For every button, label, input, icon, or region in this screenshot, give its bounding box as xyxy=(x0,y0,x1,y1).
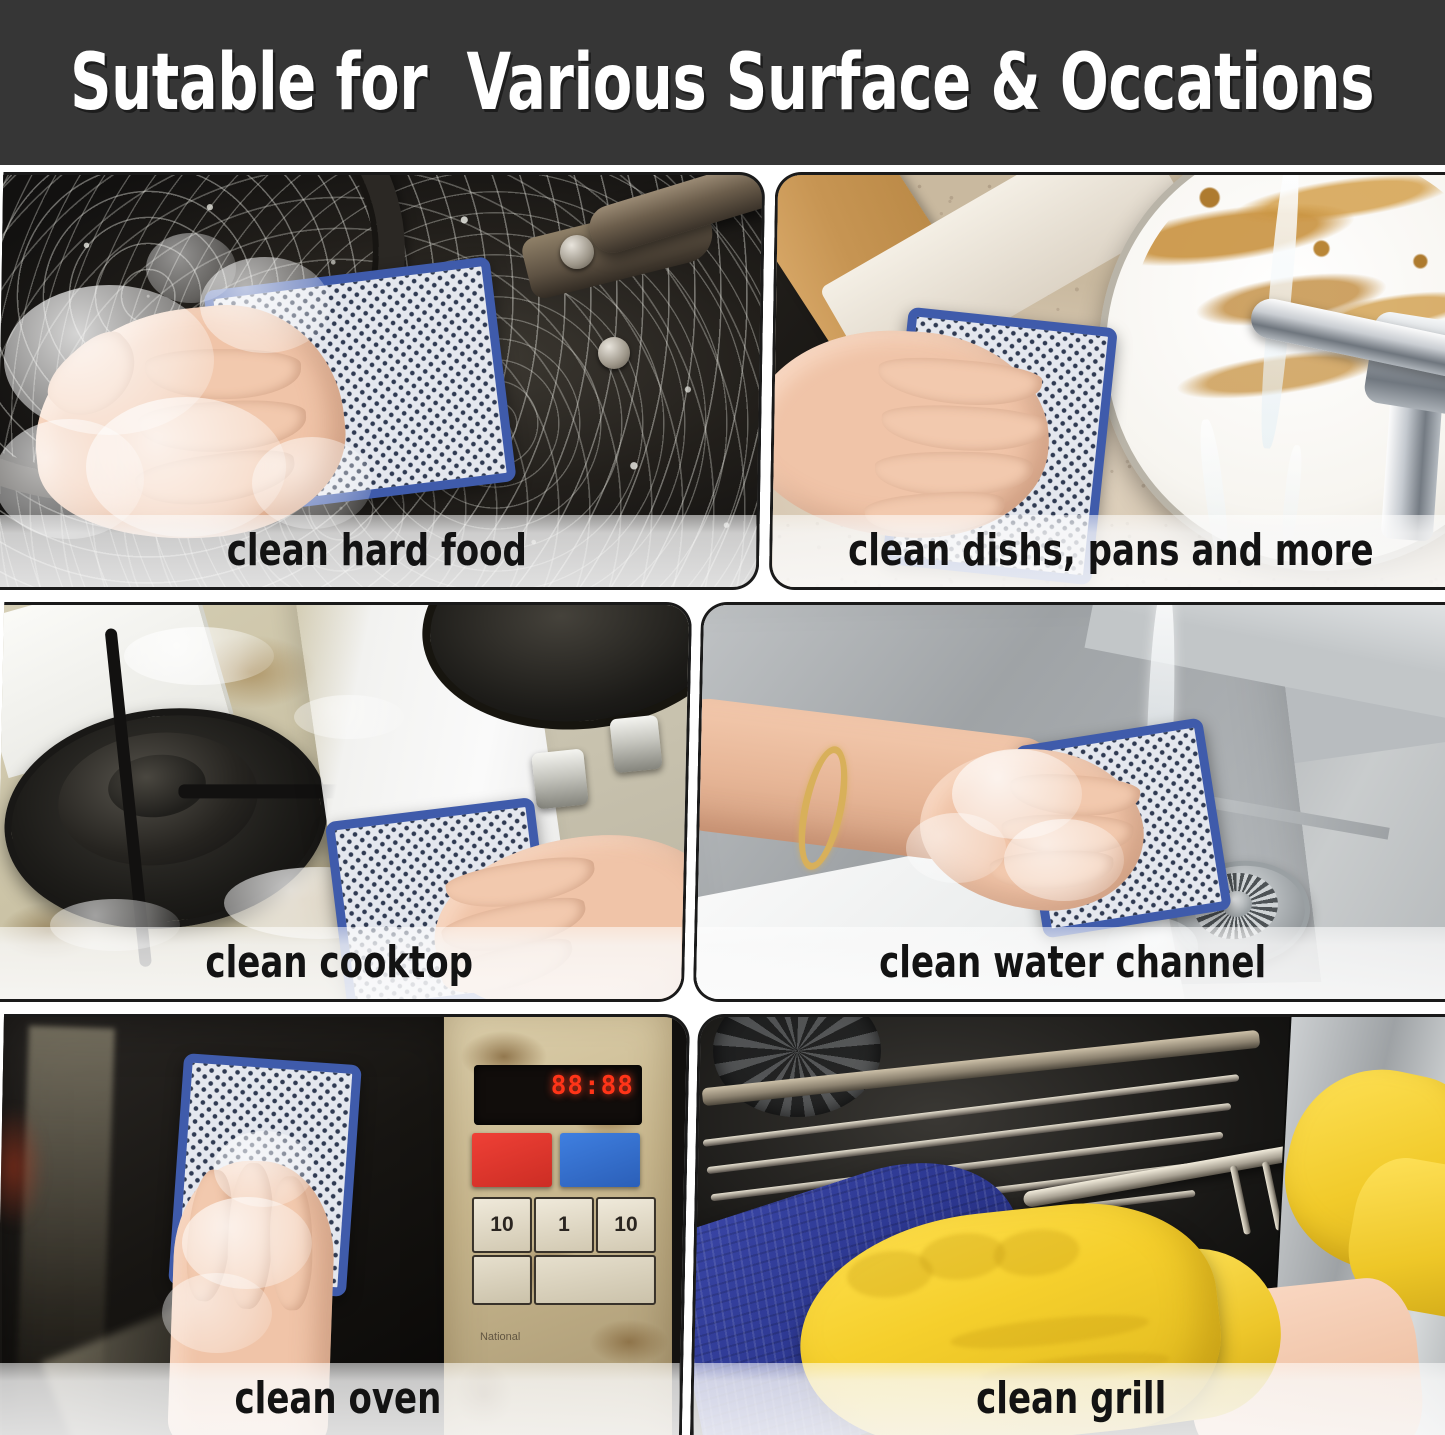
keypad-key-2[interactable]: 1 xyxy=(534,1197,594,1253)
page-title: Sutable for Various Surface & Occations xyxy=(71,44,1375,122)
panel-caption: clean cooktop xyxy=(205,941,473,985)
keypad-key-2-label: 1 xyxy=(558,1213,570,1237)
finger-2 xyxy=(880,402,1048,455)
header-bar: Sutable for Various Surface & Occations xyxy=(0,0,1445,165)
foam-1 xyxy=(124,627,274,685)
panel-clean-cooktop: clean cooktop xyxy=(0,602,692,1002)
panel-caption: clean grill xyxy=(976,1377,1166,1421)
panel-caption: clean dishs, pans and more xyxy=(848,529,1373,573)
panel-clean-dishes: clean dishs, pans and more xyxy=(769,172,1445,590)
panel-clean-water-channel: clean water channel xyxy=(693,602,1445,1002)
caption-band: clean water channel xyxy=(697,927,1445,999)
keypad-key-1-label: 10 xyxy=(490,1213,513,1237)
caption-band: clean oven xyxy=(0,1363,680,1435)
stove-knob-1 xyxy=(531,748,589,809)
led-display: 88:88 xyxy=(474,1065,642,1125)
panel-caption: clean hard food xyxy=(227,529,527,573)
keypad-key-3[interactable]: 10 xyxy=(596,1197,656,1253)
keypad-key-5[interactable] xyxy=(534,1255,656,1305)
brand-label: National xyxy=(480,1331,520,1343)
suds-3 xyxy=(906,813,1006,883)
panel-caption: clean oven xyxy=(235,1377,442,1421)
start-button-red[interactable] xyxy=(472,1133,552,1187)
panel-clean-hard-food: clean hard food xyxy=(0,172,765,590)
suds-3 xyxy=(162,1273,272,1353)
caption-band: clean hard food xyxy=(0,515,756,587)
suds-2 xyxy=(1004,819,1124,901)
suds-2 xyxy=(214,1131,314,1207)
caption-band: clean grill xyxy=(694,1363,1445,1435)
keypad-key-4[interactable] xyxy=(472,1255,532,1305)
panel-grid: clean hard food xyxy=(0,165,1445,1435)
red-reflection xyxy=(0,1107,44,1227)
foam-4 xyxy=(294,695,404,739)
panel-clean-grill: clean grill xyxy=(690,1014,1445,1435)
caption-band: clean dishs, pans and more xyxy=(772,515,1445,587)
glove-crease-1 xyxy=(949,1308,1151,1355)
stove-knob-2 xyxy=(609,715,662,774)
infographic-root: Sutable for Various Surface & Occations xyxy=(0,0,1445,1435)
caption-band: clean cooktop xyxy=(0,927,682,999)
suds-6 xyxy=(146,233,236,303)
keypad-key-3-label: 10 xyxy=(614,1213,637,1237)
finger-3 xyxy=(875,452,1033,496)
pan-rivet-bottom xyxy=(598,337,630,369)
panel-caption: clean water channel xyxy=(879,941,1266,985)
panel-clean-oven: 88:88 10 1 10 National xyxy=(0,1014,690,1435)
mode-button-blue[interactable] xyxy=(560,1133,640,1187)
led-display-value: 88:88 xyxy=(551,1073,634,1099)
keypad-key-1[interactable]: 10 xyxy=(472,1197,532,1253)
pan-rivet-top xyxy=(560,235,594,269)
glove-knuckle-3 xyxy=(991,1225,1081,1280)
